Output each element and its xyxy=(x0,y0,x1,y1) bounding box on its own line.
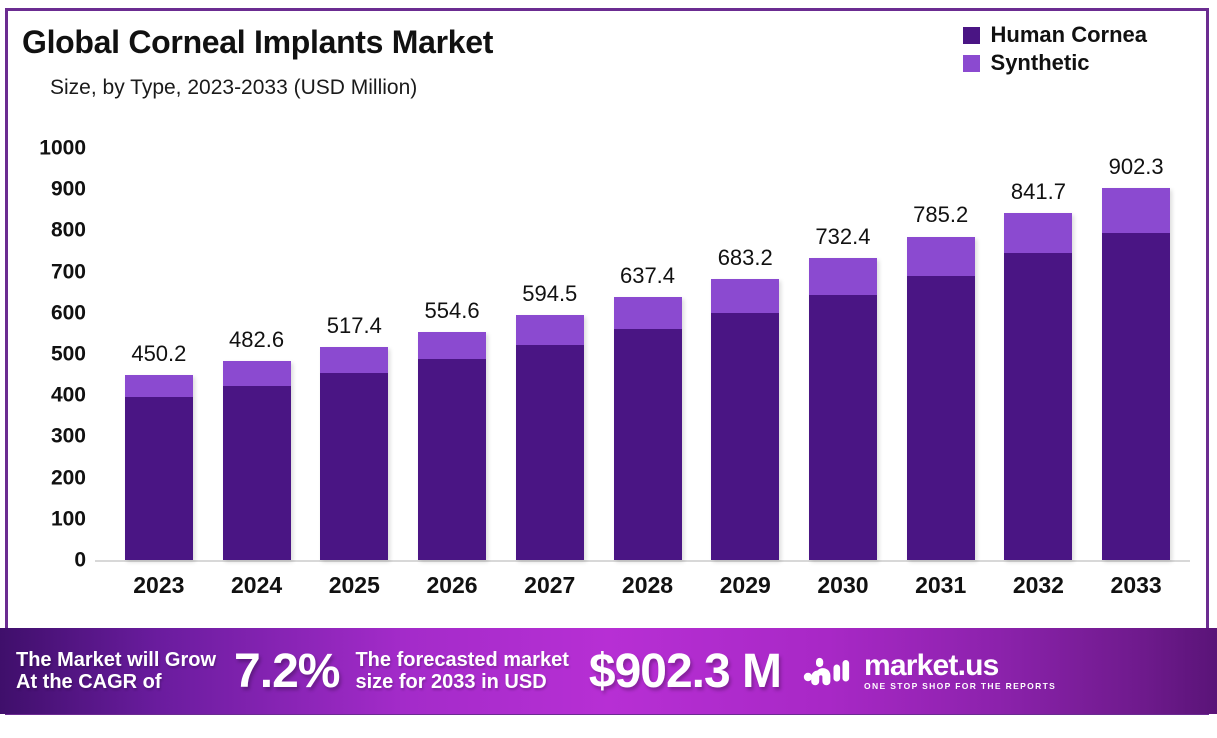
forecast-caption: The forecasted market size for 2033 in U… xyxy=(355,649,568,694)
bar-segment-synthetic[interactable] xyxy=(418,332,486,360)
bar-value-label: 732.4 xyxy=(768,226,918,248)
x-axis-tick-label: 2033 xyxy=(1061,572,1211,599)
brand-name: market.us xyxy=(864,651,999,681)
stacked-bar[interactable] xyxy=(614,297,682,560)
bar-segment-human-cornea[interactable] xyxy=(320,373,388,560)
bar-segment-synthetic[interactable] xyxy=(809,258,877,294)
brand-tagline: ONE STOP SHOP FOR THE REPORTS xyxy=(864,682,1056,691)
bars-layer: 450.22023482.62024517.42025554.62026594.… xyxy=(0,0,1217,620)
stacked-bar[interactable] xyxy=(320,347,388,560)
bar-segment-synthetic[interactable] xyxy=(1004,213,1072,253)
cagr-caption: The Market will Grow At the CAGR of xyxy=(16,649,216,694)
bar-group[interactable]: 683.22029 xyxy=(711,0,779,620)
stacked-bar[interactable] xyxy=(907,237,975,561)
forecast-caption-line1: The forecasted market xyxy=(355,649,568,671)
bar-value-label: 902.3 xyxy=(1061,156,1211,178)
bar-segment-human-cornea[interactable] xyxy=(418,359,486,560)
bar-segment-synthetic[interactable] xyxy=(320,347,388,373)
bar-segment-synthetic[interactable] xyxy=(711,279,779,313)
bar-segment-human-cornea[interactable] xyxy=(223,386,291,560)
bar-segment-human-cornea[interactable] xyxy=(614,329,682,560)
stacked-bar[interactable] xyxy=(516,315,584,560)
brand-logo[interactable]: market.us ONE STOP SHOP FOR THE REPORTS xyxy=(803,651,1056,691)
bar-segment-synthetic[interactable] xyxy=(125,375,193,397)
bar-segment-synthetic[interactable] xyxy=(516,315,584,345)
stats-banner: The Market will Grow At the CAGR of 7.2%… xyxy=(0,628,1217,714)
cagr-caption-line1: The Market will Grow xyxy=(16,649,216,671)
bar-segment-synthetic[interactable] xyxy=(907,237,975,276)
stacked-bar[interactable] xyxy=(1102,188,1170,560)
stacked-bar[interactable] xyxy=(125,375,193,560)
bar-value-label: 841.7 xyxy=(963,181,1113,203)
forecast-caption-line2: size for 2033 in USD xyxy=(355,671,568,693)
bar-group[interactable]: 841.72032 xyxy=(1004,0,1072,620)
bar-segment-human-cornea[interactable] xyxy=(907,276,975,560)
market-us-logo-icon xyxy=(803,652,855,690)
bar-group[interactable]: 554.62026 xyxy=(418,0,486,620)
bar-group[interactable]: 594.52027 xyxy=(516,0,584,620)
stacked-bar[interactable] xyxy=(418,332,486,560)
stacked-bar[interactable] xyxy=(711,279,779,560)
bar-segment-human-cornea[interactable] xyxy=(1004,253,1072,560)
bar-group[interactable]: 637.42028 xyxy=(614,0,682,620)
bar-segment-synthetic[interactable] xyxy=(1102,188,1170,233)
bar-segment-synthetic[interactable] xyxy=(614,297,682,329)
cagr-value: 7.2% xyxy=(234,644,339,699)
stacked-bar[interactable] xyxy=(809,258,877,560)
infographic-root: Global Corneal Implants Market Size, by … xyxy=(0,0,1217,738)
bar-group[interactable]: 482.62024 xyxy=(223,0,291,620)
bar-value-label: 637.4 xyxy=(573,265,723,287)
bar-segment-human-cornea[interactable] xyxy=(1102,233,1170,560)
bar-group[interactable]: 785.22031 xyxy=(907,0,975,620)
bar-group[interactable]: 732.42030 xyxy=(809,0,877,620)
bar-segment-human-cornea[interactable] xyxy=(809,295,877,560)
bar-value-label: 785.2 xyxy=(866,204,1016,226)
brand-text: market.us ONE STOP SHOP FOR THE REPORTS xyxy=(864,651,1056,691)
bar-value-label: 683.2 xyxy=(670,247,820,269)
bar-segment-synthetic[interactable] xyxy=(223,361,291,385)
bar-group[interactable]: 450.22023 xyxy=(125,0,193,620)
plot-area: 01002003004005006007008009001000 450.220… xyxy=(0,0,1217,620)
stacked-bar[interactable] xyxy=(223,361,291,560)
bar-segment-human-cornea[interactable] xyxy=(125,397,193,560)
stacked-bar[interactable] xyxy=(1004,213,1072,560)
cagr-caption-line2: At the CAGR of xyxy=(16,671,216,693)
bar-segment-human-cornea[interactable] xyxy=(711,313,779,560)
bar-segment-human-cornea[interactable] xyxy=(516,345,584,560)
forecast-value: $902.3 M xyxy=(589,644,781,699)
bar-group[interactable]: 902.32033 xyxy=(1102,0,1170,620)
